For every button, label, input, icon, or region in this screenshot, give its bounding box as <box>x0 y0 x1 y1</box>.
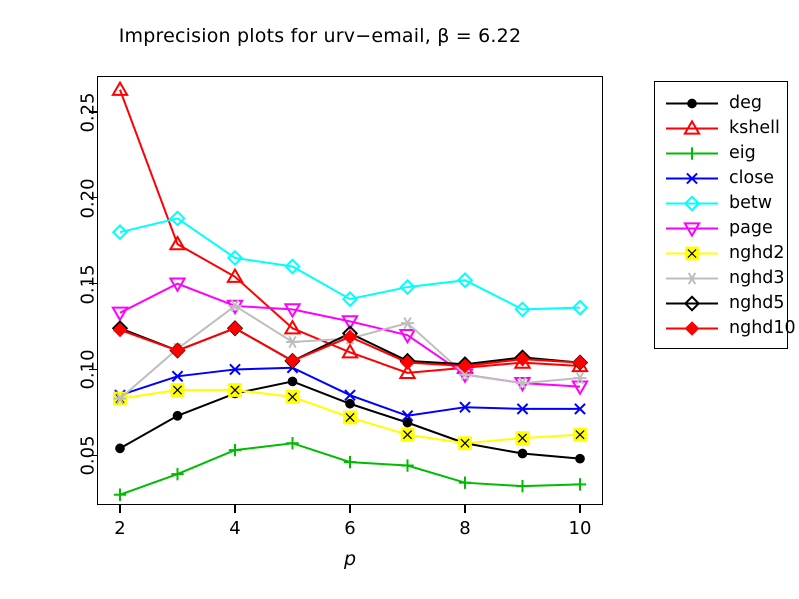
x-tick-mark <box>119 505 120 513</box>
legend-symbol-kshell <box>664 116 720 141</box>
series-betw <box>113 212 586 316</box>
legend-item-kshell[interactable]: kshell <box>655 116 787 141</box>
y-tick-label: 0.25 <box>78 92 99 132</box>
legend-label-page: page <box>729 217 773 240</box>
legend-item-page[interactable]: page <box>655 216 787 241</box>
x-axis-label: p <box>97 548 603 570</box>
x-tick-mark <box>464 505 465 513</box>
x-tick-mark <box>234 505 235 513</box>
x-tick-label: 2 <box>114 518 125 539</box>
legend-symbol-nghd5 <box>664 291 720 316</box>
chart-page: Imprecision plots for urv−email, β = 6.2… <box>0 0 799 599</box>
beta-symbol: β <box>437 25 449 47</box>
chart-title: Imprecision plots for urv−email, β = 6.2… <box>0 25 640 47</box>
legend-symbol-nghd10 <box>664 316 720 341</box>
legend-label-close: close <box>729 167 774 190</box>
x-tick-label: 6 <box>344 518 355 539</box>
legend-item-deg[interactable]: deg <box>655 91 787 116</box>
chart-title-prefix: Imprecision plots for urv−email, <box>119 25 437 47</box>
legend: degkshelleigclosebetwpagenghd2nghd3nghd5… <box>654 81 788 349</box>
legend-label-eig: eig <box>729 142 756 165</box>
y-tick-label: 0.10 <box>78 350 99 390</box>
legend-item-close[interactable]: close <box>655 166 787 191</box>
legend-symbol-close <box>664 166 720 191</box>
legend-label-nghd3: nghd3 <box>729 267 785 290</box>
series-layer <box>97 76 603 505</box>
legend-item-nghd2[interactable]: nghd2 <box>655 241 787 266</box>
legend-symbol-betw <box>664 191 720 216</box>
x-tick-mark <box>579 505 580 513</box>
legend-label-nghd10: nghd10 <box>729 317 796 340</box>
legend-symbol-nghd2 <box>664 241 720 266</box>
y-tick-label: 0.05 <box>78 436 99 476</box>
x-tick-label: 8 <box>459 518 470 539</box>
legend-item-nghd5[interactable]: nghd5 <box>655 291 787 316</box>
y-tick-label: 0.20 <box>78 178 99 218</box>
legend-symbol-eig <box>664 141 720 166</box>
series-eig <box>114 437 586 501</box>
plot-area: 0.050.100.150.200.25246810 <box>97 76 603 505</box>
legend-symbol-deg <box>664 91 720 116</box>
legend-label-nghd2: nghd2 <box>729 242 785 265</box>
legend-symbol-nghd3 <box>664 266 720 291</box>
legend-label-nghd5: nghd5 <box>729 292 785 315</box>
legend-symbol-page <box>664 216 720 241</box>
x-tick-mark <box>349 505 350 513</box>
x-tick-label: 10 <box>569 518 592 539</box>
y-tick-label: 0.15 <box>78 264 99 304</box>
x-tick-label: 4 <box>229 518 240 539</box>
legend-label-deg: deg <box>729 92 762 115</box>
legend-item-nghd3[interactable]: nghd3 <box>655 266 787 291</box>
legend-item-betw[interactable]: betw <box>655 191 787 216</box>
y-axis-label: ε(p) <box>22 0 52 599</box>
chart-title-value: = 6.22 <box>450 25 522 47</box>
legend-item-nghd10[interactable]: nghd10 <box>655 316 787 341</box>
legend-label-betw: betw <box>729 192 772 215</box>
legend-item-eig[interactable]: eig <box>655 141 787 166</box>
legend-label-kshell: kshell <box>729 117 780 140</box>
